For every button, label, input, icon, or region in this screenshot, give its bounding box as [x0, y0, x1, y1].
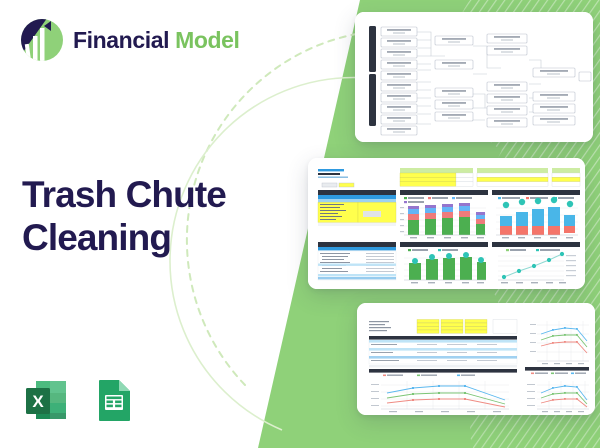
page-title-line-1: Trash Chute	[22, 174, 282, 217]
panel-cost-inputs	[318, 190, 396, 226]
brand-wordmark: Financial Model	[73, 29, 240, 52]
page-title-line-2: Cleaning	[22, 217, 282, 260]
flowchart-canvas	[355, 12, 593, 142]
section-banner	[369, 369, 517, 373]
svg-text:X: X	[32, 392, 44, 411]
financial-model-circle-logo	[20, 18, 64, 62]
brand-name-part1: Financial	[73, 27, 169, 53]
promo-banner: Financial Model Trash Chute Cleaning X	[0, 0, 600, 448]
brand-logo: Financial Model	[20, 18, 240, 62]
microsoft-excel-icon: X	[22, 376, 70, 424]
projections-canvas	[357, 303, 595, 415]
financial-projections-preview[interactable]	[357, 303, 595, 415]
google-sheets-icon	[90, 376, 138, 424]
brand-name-part2: Model	[175, 27, 239, 53]
financial-dashboard-preview[interactable]	[308, 158, 585, 289]
file-format-icons: X	[22, 376, 138, 424]
dupont-analysis-flowchart-preview[interactable]	[355, 12, 593, 142]
panel-cost-structure	[318, 242, 396, 280]
page-title: Trash Chute Cleaning	[22, 174, 282, 260]
dashboard-canvas	[308, 158, 585, 289]
